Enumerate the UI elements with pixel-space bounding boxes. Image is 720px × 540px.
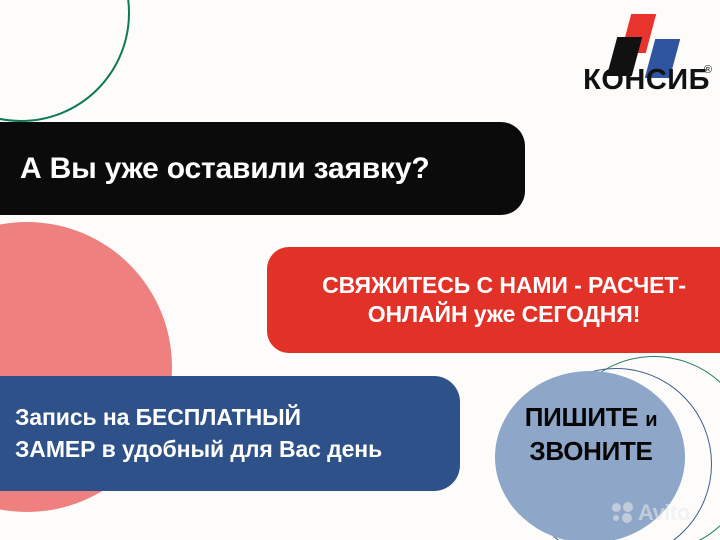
promo-canvas: КОНСИБ ® А Вы уже оставили заявку? СВЯЖИ… [0, 0, 720, 540]
brand-name: КОНСИБ [570, 66, 710, 95]
avito-dot-2 [623, 502, 633, 512]
callout-text: ПИШИТЕ и ЗВОНИТЕ [495, 400, 687, 469]
contact-banner-line-2-part-3: СЕГОДНЯ! [522, 301, 641, 327]
avito-watermark: Avito [612, 502, 690, 524]
avito-dots-icon [612, 502, 635, 524]
decorative-green-ring-top [0, 0, 130, 122]
avito-watermark-text: Avito [638, 502, 690, 524]
measure-banner: Запись на БЕСПЛАТНЫЙ ЗАМЕР в удобный для… [0, 376, 460, 491]
measure-banner-line-2: ЗАМЕР в удобный для Вас день [15, 434, 436, 466]
contact-banner-line-2-part-1: ОНЛАЙН [368, 301, 474, 327]
callout-line-1-small: и [645, 409, 657, 431]
logo-mark-group [570, 14, 710, 66]
question-banner-text: А Вы уже оставили заявку? [20, 152, 485, 186]
callout-line-2: ЗВОНИТЕ [495, 434, 687, 468]
question-banner: А Вы уже оставили заявку? [0, 122, 525, 215]
measure-banner-line-1: Запись на БЕСПЛАТНЫЙ [15, 402, 436, 434]
avito-dot-1 [612, 503, 621, 512]
avito-dot-4 [613, 515, 619, 521]
contact-banner-line-2-part-2: уже [474, 301, 522, 327]
contact-banner-line-2: ОНЛАЙН уже СЕГОДНЯ! [289, 300, 719, 329]
callout-line-1-strong: ПИШИТЕ [525, 402, 646, 432]
callout-line-1: ПИШИТЕ и [495, 400, 687, 434]
contact-banner: СВЯЖИТЕСЬ С НАМИ - РАСЧЕТ- ОНЛАЙН уже СЕ… [267, 247, 720, 353]
brand-logo: КОНСИБ ® [570, 14, 710, 102]
contact-banner-line-1: СВЯЖИТЕСЬ С НАМИ - РАСЧЕТ- [289, 271, 719, 300]
avito-dot-3 [622, 513, 632, 523]
registered-trademark-icon: ® [704, 64, 712, 76]
